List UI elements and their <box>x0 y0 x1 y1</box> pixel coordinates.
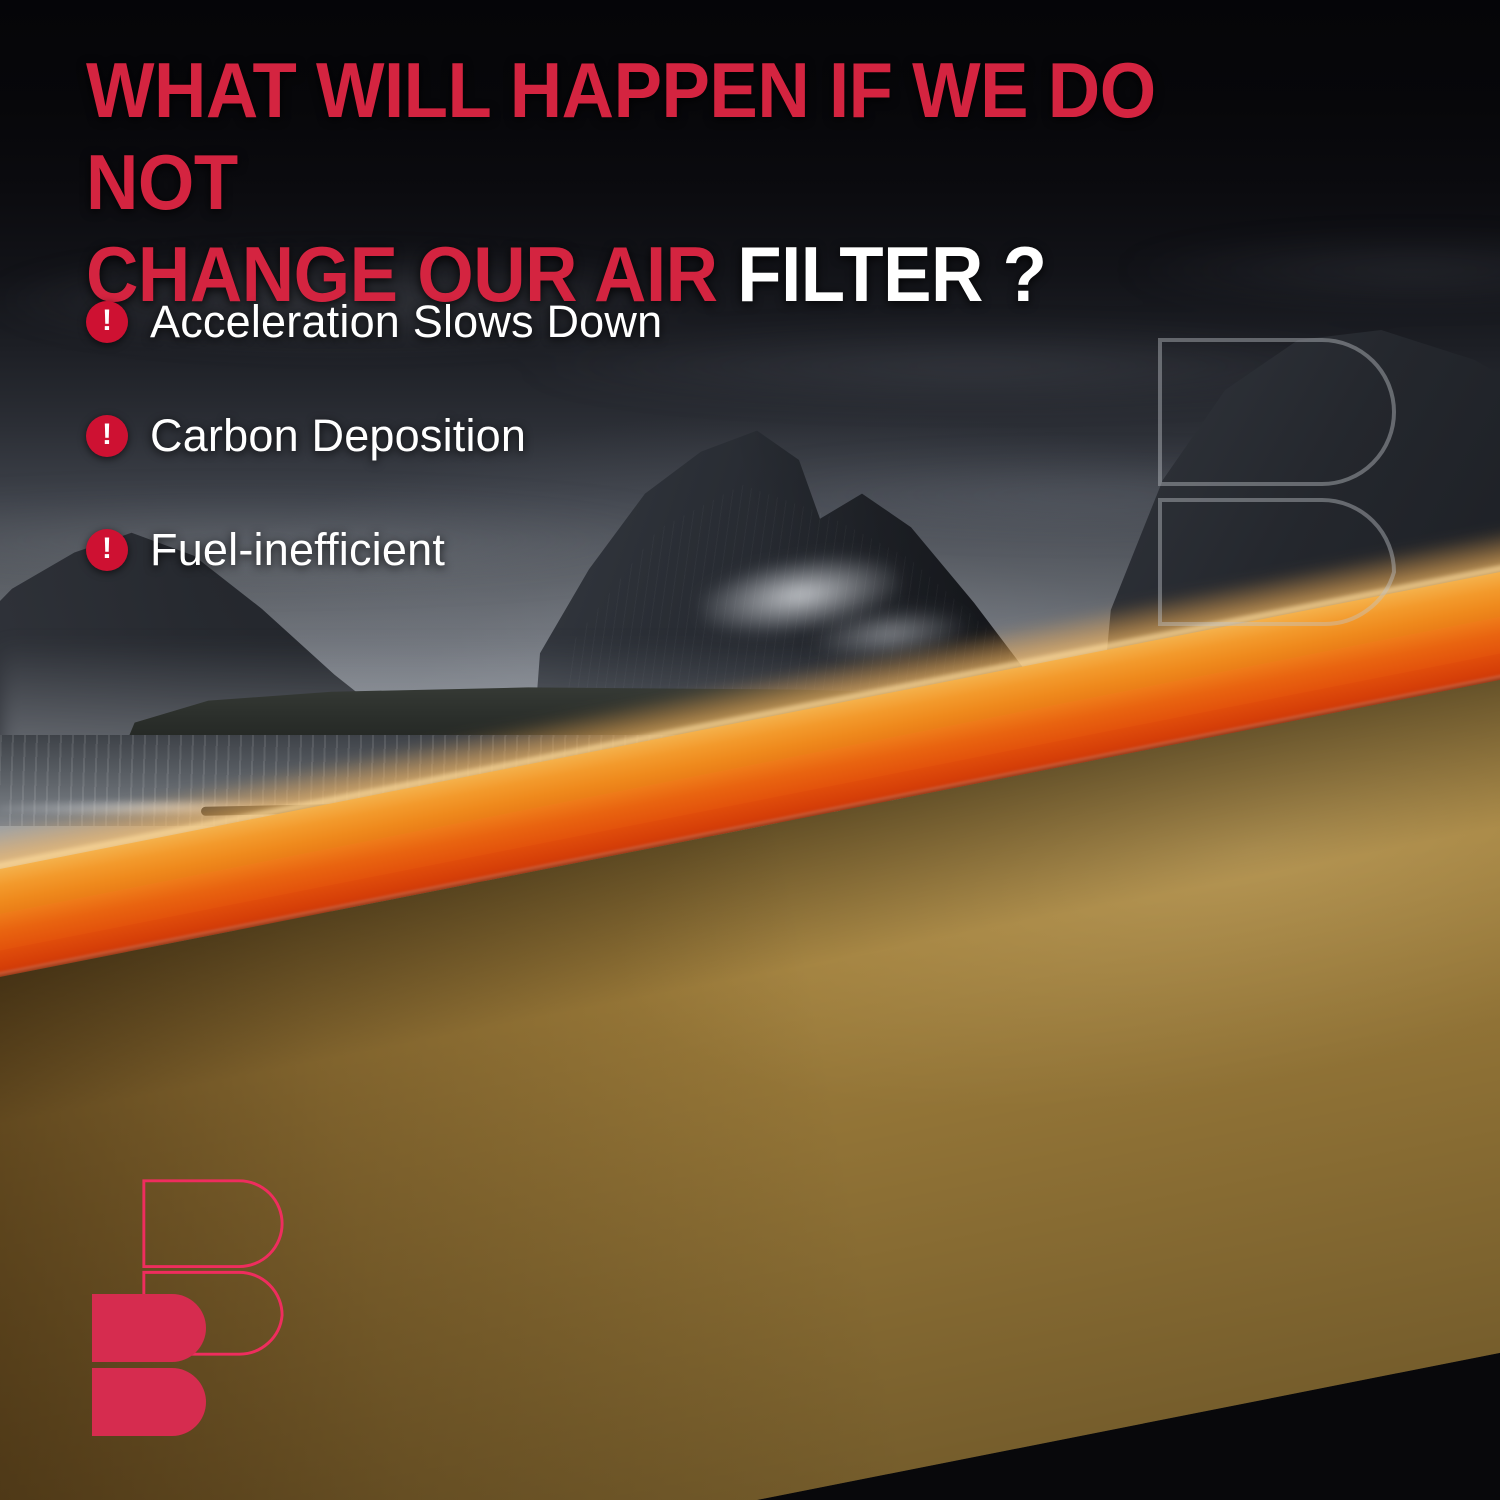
poster-canvas: WHAT WILL HAPPEN IF WE DO NOT CHANGE OUR… <box>0 0 1500 1500</box>
headline-line-1-text: WHAT WILL HAPPEN IF WE DO NOT <box>86 46 1156 226</box>
exclamation-icon: ! <box>86 301 128 343</box>
page-title: WHAT WILL HAPPEN IF WE DO NOT CHANGE OUR… <box>86 44 1314 320</box>
list-item: ! Acceleration Slows Down <box>86 296 906 348</box>
exclamation-icon-glyph: ! <box>102 420 112 450</box>
exclamation-icon: ! <box>86 415 128 457</box>
brand-b-watermark-outline <box>1152 332 1452 632</box>
warning-list: ! Acceleration Slows Down ! Carbon Depos… <box>86 296 906 638</box>
brand-b-logo-solid <box>88 1290 238 1440</box>
warning-label-fuel: Fuel-inefficient <box>150 524 445 576</box>
exclamation-icon-glyph: ! <box>102 534 112 564</box>
headline-line-1: WHAT WILL HAPPEN IF WE DO NOT <box>86 44 1314 228</box>
exclamation-icon: ! <box>86 529 128 571</box>
brand-b-logo <box>88 1175 338 1425</box>
list-item: ! Fuel-inefficient <box>86 524 906 576</box>
exclamation-icon-glyph: ! <box>102 306 112 336</box>
warning-label-carbon: Carbon Deposition <box>150 410 526 462</box>
warning-label-acceleration: Acceleration Slows Down <box>150 296 662 348</box>
list-item: ! Carbon Deposition <box>86 410 906 462</box>
